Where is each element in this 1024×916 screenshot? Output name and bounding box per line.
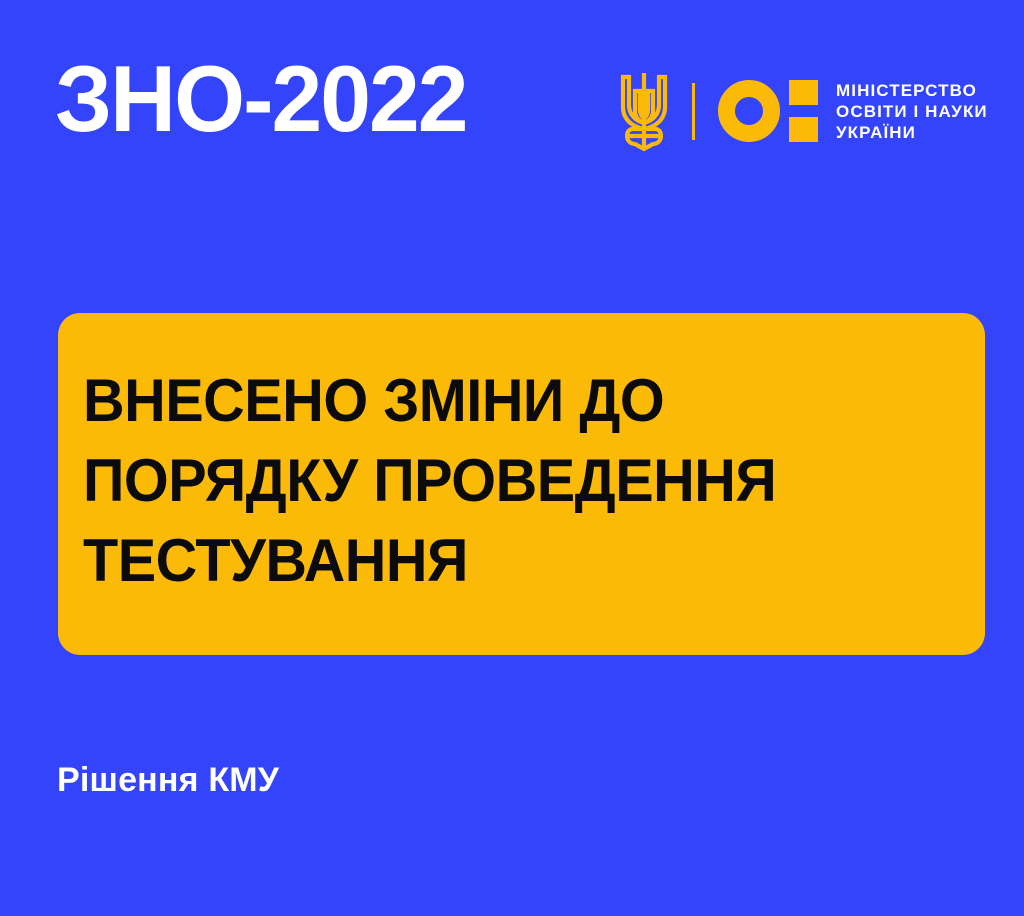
ministry-logo-line-3: УКРАЇНИ <box>836 122 988 143</box>
announcement-line-2: ПОРЯДКУ ПРОВЕДЕННЯ <box>83 441 776 521</box>
announcement-card: ВНЕСЕНО ЗМІНИ ДО ПОРЯДКУ ПРОВЕДЕННЯ ТЕСТ… <box>58 313 985 655</box>
logo-square-bottom <box>789 117 818 142</box>
vertical-divider-icon <box>692 83 695 140</box>
poster-header: ЗНО-2022 МІНІСТЕРСТВО ОСВ <box>0 0 1024 190</box>
ministry-logo-line-2: ОСВІТИ І НАУКИ <box>836 101 988 122</box>
footer-caption: Рішення КМУ <box>57 761 279 799</box>
mon-circle-colon-icon <box>718 80 818 142</box>
announcement-line-3: ТЕСТУВАННЯ <box>83 521 776 601</box>
ministry-logo: МІНІСТЕРСТВО ОСВІТИ І НАУКИ УКРАЇНИ <box>615 66 988 156</box>
ministry-logo-line-1: МІНІСТЕРСТВО <box>836 80 988 101</box>
ministry-logo-text: МІНІСТЕРСТВО ОСВІТИ І НАУКИ УКРАЇНИ <box>836 80 988 143</box>
announcement-line-1: ВНЕСЕНО ЗМІНИ ДО <box>83 361 776 441</box>
poster-canvas: ЗНО-2022 МІНІСТЕРСТВО ОСВ <box>0 0 1024 916</box>
logo-square-top <box>789 80 818 105</box>
ukraine-trident-icon <box>615 67 673 155</box>
announcement-headline: ВНЕСЕНО ЗМІНИ ДО ПОРЯДКУ ПРОВЕДЕННЯ ТЕСТ… <box>83 361 776 601</box>
logo-ring-shape <box>718 80 780 142</box>
page-title: ЗНО-2022 <box>55 52 467 146</box>
